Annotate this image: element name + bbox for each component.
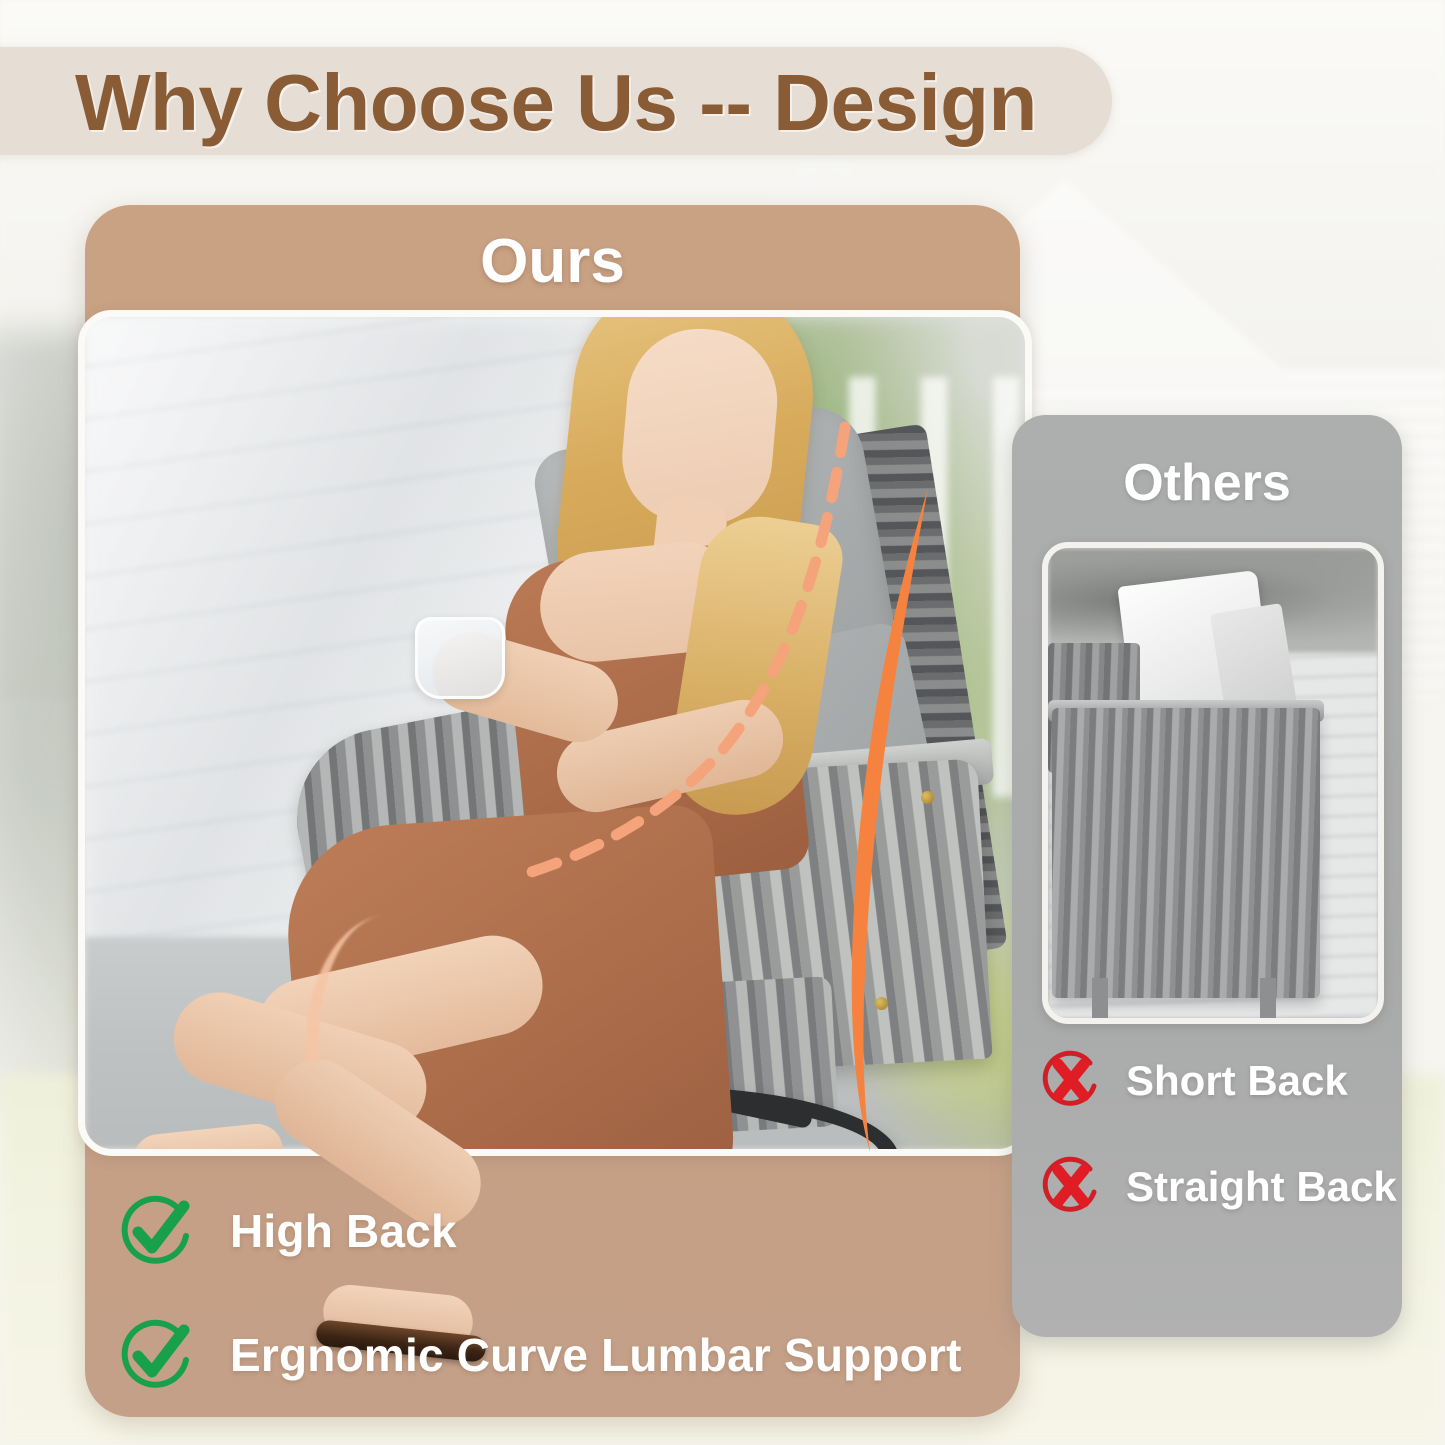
others-panel-title: Others	[1012, 448, 1402, 518]
green-check-icon	[118, 1192, 196, 1270]
infographic-stage: Ours High Back Ergnomic Curve Lumbar Sup…	[0, 0, 1445, 1445]
back-height-swoosh-arrow	[840, 480, 950, 1160]
others-sofa-leg	[1092, 978, 1108, 1018]
drawback-row: Short Back	[1038, 1048, 1418, 1114]
others-drawback-list: Short Back Straight Back	[1038, 1048, 1418, 1260]
others-sofa-body	[1052, 708, 1320, 998]
drawback-label: Short Back	[1126, 1057, 1348, 1105]
others-product-photo	[1042, 542, 1384, 1024]
red-cross-icon	[1038, 1154, 1104, 1220]
page-title: Why Choose Us -- Design	[75, 55, 1105, 150]
feature-label: High Back	[230, 1204, 457, 1258]
drawback-row: Straight Back	[1038, 1154, 1418, 1220]
ours-feature-list: High Back Ergnomic Curve Lumbar Support	[118, 1192, 998, 1440]
feature-label: Ergnomic Curve Lumbar Support	[230, 1328, 962, 1382]
feature-row: High Back	[118, 1192, 998, 1270]
others-sofa-leg	[1260, 978, 1276, 1018]
model-sandal-left	[126, 1154, 293, 1156]
feature-row: Ergnomic Curve Lumbar Support	[118, 1316, 998, 1394]
model-glass-cup	[415, 617, 505, 699]
ours-panel-title: Ours	[85, 218, 1020, 304]
red-cross-icon	[1038, 1048, 1104, 1114]
green-check-icon	[118, 1316, 196, 1394]
model-foot-left	[131, 1121, 286, 1156]
drawback-label: Straight Back	[1126, 1163, 1397, 1211]
